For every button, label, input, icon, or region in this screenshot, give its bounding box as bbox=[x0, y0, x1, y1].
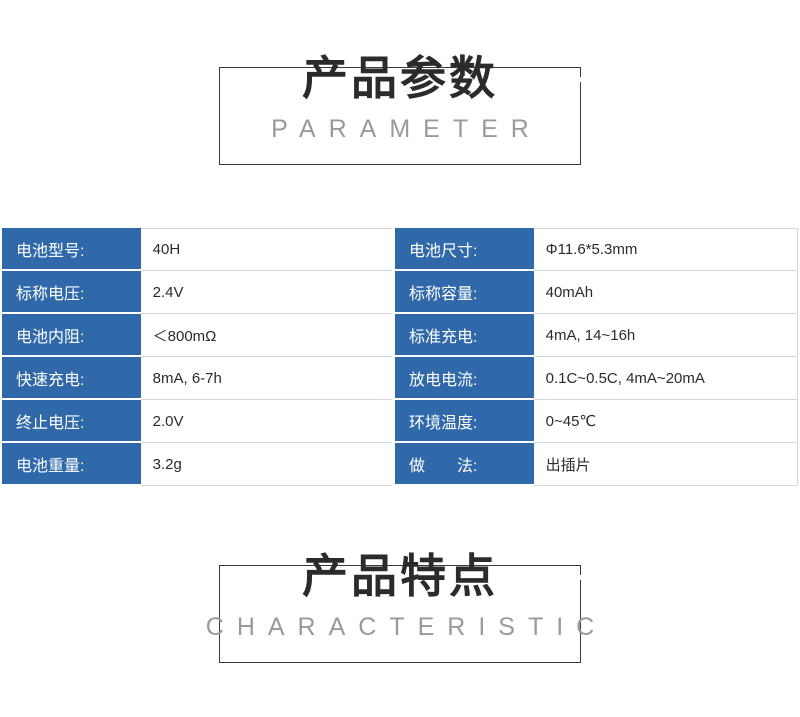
characteristic-section-header: 产品特点 CHARACTERISTIC bbox=[0, 548, 800, 688]
spec-label-fast-charge: 快速充电: bbox=[2, 357, 141, 400]
spec-label-battery-weight: 电池重量: bbox=[2, 443, 141, 486]
characteristic-title-cn: 产品特点 bbox=[0, 548, 800, 604]
table-row: 电池内阻: ＜800mΩ 标准充电: 4mA, 14~16h bbox=[2, 314, 798, 357]
spec-value-nominal-voltage: 2.4V bbox=[141, 271, 393, 314]
spec-table: 电池型号: 40H 电池尺寸: Φ11.6*5.3mm 标称电压: 2.4V 标… bbox=[2, 228, 798, 486]
spec-label-nominal-capacity: 标称容量: bbox=[395, 271, 534, 314]
table-row: 电池型号: 40H 电池尺寸: Φ11.6*5.3mm bbox=[2, 228, 798, 271]
spec-value-ambient-temperature: 0~45℃ bbox=[534, 400, 798, 443]
spec-value-battery-weight: 3.2g bbox=[141, 443, 393, 486]
spec-value-terminal-type: 出插片 bbox=[534, 443, 798, 486]
spec-label-battery-model: 电池型号: bbox=[2, 228, 141, 271]
spec-label-cutoff-voltage: 终止电压: bbox=[2, 400, 141, 443]
table-row: 快速充电: 8mA, 6-7h 放电电流: 0.1C~0.5C, 4mA~20m… bbox=[2, 357, 798, 400]
parameter-section-header: 产品参数 PARAMETER bbox=[0, 50, 800, 190]
table-row: 电池重量: 3.2g 做 法: 出插片 bbox=[2, 443, 798, 486]
table-row: 终止电压: 2.0V 环境温度: 0~45℃ bbox=[2, 400, 798, 443]
spec-label-internal-resistance: 电池内阻: bbox=[2, 314, 141, 357]
spec-value-discharge-current: 0.1C~0.5C, 4mA~20mA bbox=[534, 357, 798, 400]
spec-value-nominal-capacity: 40mAh bbox=[534, 271, 798, 314]
table-row: 标称电压: 2.4V 标称容量: 40mAh bbox=[2, 271, 798, 314]
spec-label-battery-size: 电池尺寸: bbox=[395, 228, 534, 271]
spec-value-standard-charge: 4mA, 14~16h bbox=[534, 314, 798, 357]
spec-value-fast-charge: 8mA, 6-7h bbox=[141, 357, 393, 400]
spec-value-battery-model: 40H bbox=[141, 228, 393, 271]
spec-label-standard-charge: 标准充电: bbox=[395, 314, 534, 357]
spec-label-terminal-type: 做 法: bbox=[395, 443, 534, 486]
spec-value-internal-resistance: ＜800mΩ bbox=[141, 314, 393, 357]
parameter-title-cn: 产品参数 bbox=[0, 50, 800, 106]
spec-label-ambient-temperature: 环境温度: bbox=[395, 400, 534, 443]
spec-label-nominal-voltage: 标称电压: bbox=[2, 271, 141, 314]
characteristic-title-en: CHARACTERISTIC bbox=[0, 610, 800, 644]
spec-value-cutoff-voltage: 2.0V bbox=[141, 400, 393, 443]
spec-label-discharge-current: 放电电流: bbox=[395, 357, 534, 400]
spec-value-battery-size: Φ11.6*5.3mm bbox=[534, 228, 798, 271]
parameter-title-en: PARAMETER bbox=[0, 112, 800, 146]
